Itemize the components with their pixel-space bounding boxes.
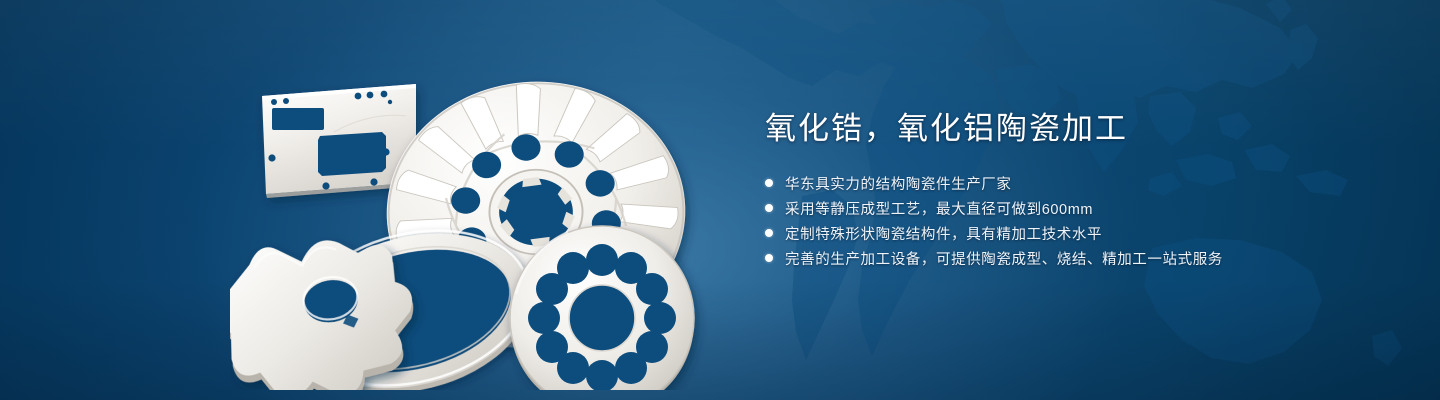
list-item: 定制特殊形状陶瓷结构件，具有精加工技术水平 [765, 221, 1385, 246]
list-item: 完善的生产加工设备，可提供陶瓷成型、烧结、精加工一站式服务 [765, 246, 1385, 271]
list-item: 华东具实力的结构陶瓷件生产厂家 [765, 171, 1385, 196]
bullet-dot-icon [765, 179, 773, 187]
feature-text: 采用等静压成型工艺，最大直径可做到600mm [785, 198, 1093, 219]
feature-list: 华东具实力的结构陶瓷件生产厂家 采用等静压成型工艺，最大直径可做到600mm 定… [765, 171, 1385, 271]
hero-banner: 氧化锆，氧化铝陶瓷加工 华东具实力的结构陶瓷件生产厂家 采用等静压成型工艺，最大… [0, 0, 1440, 400]
feature-text: 完善的生产加工设备，可提供陶瓷成型、烧结、精加工一站式服务 [785, 248, 1223, 269]
page-title: 氧化锆，氧化铝陶瓷加工 [765, 110, 1385, 149]
bullet-dot-icon [765, 229, 773, 237]
list-item: 采用等静压成型工艺，最大直径可做到600mm [765, 196, 1385, 221]
feature-text: 定制特殊形状陶瓷结构件，具有精加工技术水平 [785, 223, 1102, 244]
product-photo-montage [230, 40, 710, 390]
feature-text: 华东具实力的结构陶瓷件生产厂家 [785, 173, 1012, 194]
bullet-dot-icon [765, 204, 773, 212]
bullet-dot-icon [765, 254, 773, 262]
banner-copy: 氧化锆，氧化铝陶瓷加工 华东具实力的结构陶瓷件生产厂家 采用等静压成型工艺，最大… [765, 110, 1385, 271]
